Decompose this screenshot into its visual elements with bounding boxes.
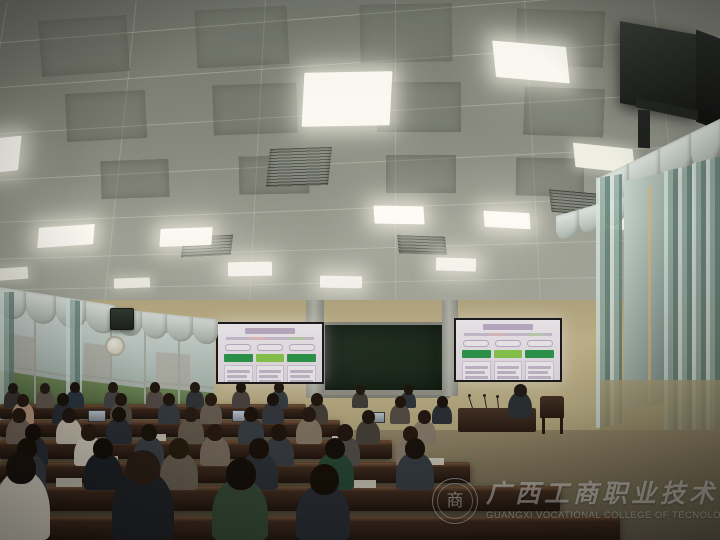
slide-caption-pill [289, 344, 316, 351]
chair [540, 396, 564, 418]
ceiling-light-panel [320, 276, 362, 289]
ceiling-coffer [523, 87, 605, 138]
slide-column-header [287, 354, 316, 362]
slide-line [227, 370, 250, 373]
wall-clock [105, 336, 125, 356]
slide-line [465, 371, 485, 374]
slide-caption-pill [495, 340, 522, 347]
valance-scallop [26, 291, 56, 326]
ceiling-coffer [194, 6, 289, 69]
audience-head [17, 394, 29, 407]
slide-line [227, 375, 247, 378]
lecture-hall-photo: 商 广西工商职业技术学院 GUANGXI VOCATIONAL COLLEGE … [0, 0, 720, 540]
slide-content-right [456, 320, 560, 380]
slide-line [290, 380, 313, 383]
chair-leg [560, 418, 563, 434]
ceiling-light-panel [0, 267, 28, 282]
slide-line [497, 366, 520, 369]
ceiling-light-panel [436, 257, 476, 271]
slide-line [465, 376, 488, 379]
slide-columns [460, 350, 556, 382]
audience-head [8, 383, 18, 394]
audience-head [190, 382, 200, 393]
valance-scallop [193, 317, 219, 346]
audience-head [267, 393, 279, 406]
audience-head [226, 458, 256, 490]
ceiling-light-panel [492, 41, 570, 84]
slide-title-bar [245, 328, 295, 334]
slide-column-body [224, 365, 253, 384]
audience-head [302, 407, 316, 422]
slide-line [465, 366, 488, 369]
slide-caption-pill [463, 340, 490, 347]
slide-line [528, 371, 548, 374]
audience-head [108, 382, 118, 393]
audience-head [244, 407, 258, 422]
slide-column-header [525, 350, 554, 358]
audience-head [40, 383, 50, 394]
slide-content-left [218, 324, 322, 382]
slide-column-body [525, 361, 554, 382]
handout-paper [56, 478, 82, 487]
slide-caption-row [460, 340, 556, 347]
desk-row [0, 486, 560, 511]
slide-column-body [494, 361, 523, 382]
projection-screen-right [454, 318, 562, 382]
audience-head [205, 393, 217, 406]
slide-title-bar [483, 324, 533, 330]
speaker-mount-bracket [638, 110, 650, 149]
slide-caption-pill [225, 344, 252, 351]
slide-line [497, 376, 520, 379]
slide-subtitle-bar [464, 333, 552, 336]
slide-column [494, 350, 523, 382]
audience-head [310, 464, 339, 495]
audience-head [236, 382, 246, 393]
valance-scallop [142, 311, 168, 340]
blackboard [322, 322, 450, 398]
slide-line [290, 370, 313, 373]
slide-column [287, 354, 316, 384]
slide-column-header [494, 350, 523, 358]
window-frame-right [648, 186, 651, 403]
audience-head [405, 438, 425, 459]
ceiling-coffer [65, 90, 147, 142]
slide-line [290, 375, 310, 378]
audience-head [141, 424, 157, 441]
slide-column-body [287, 365, 316, 384]
ceiling-light-panel [159, 227, 212, 247]
ceiling-light-panel [228, 262, 272, 277]
audience-head [404, 385, 413, 395]
slide-caption-pill [257, 344, 284, 351]
audience-head [271, 424, 287, 441]
audience-head [274, 382, 284, 393]
ceiling-coffer [360, 3, 453, 63]
audience-head [57, 393, 69, 406]
chalk-tray [322, 390, 444, 395]
audience-head [163, 393, 175, 406]
ceiling-light-panel [37, 224, 95, 248]
slide-column-body [462, 361, 491, 382]
audience-head [150, 382, 160, 393]
slide-column [224, 354, 253, 384]
audience-head [126, 450, 160, 484]
handout-paper [352, 480, 376, 488]
audience-head [6, 452, 36, 484]
ceiling-coffer [38, 15, 130, 77]
audience-head [362, 410, 375, 424]
audience-head [93, 438, 113, 459]
ceiling-light-panel [0, 136, 22, 179]
chair-leg [542, 418, 545, 434]
microphone-head [468, 394, 471, 397]
audience-head [62, 408, 76, 423]
slide-column [256, 354, 285, 384]
audience-head [395, 396, 406, 408]
audience-head [207, 424, 223, 441]
slide-line [528, 376, 551, 379]
ceiling-speaker-side [696, 30, 720, 131]
ceiling-light-panel [302, 71, 393, 127]
audience-head [12, 408, 26, 423]
ceiling-coffer [212, 83, 298, 136]
laptop [88, 410, 106, 422]
slide-columns [222, 354, 318, 384]
audience-head [249, 438, 269, 459]
audience-head [115, 393, 127, 406]
slide-caption-row [222, 344, 318, 351]
audience-head [70, 382, 80, 393]
air-vent [266, 147, 332, 187]
slide-line [528, 366, 551, 369]
slide-line [497, 371, 517, 374]
valance-scallop [167, 314, 193, 343]
audience-head [81, 424, 97, 441]
ceiling-light-panel [114, 277, 150, 288]
projection-screen-left [216, 322, 324, 384]
slide-line [259, 370, 282, 373]
air-vent [397, 235, 447, 255]
slide-column-header [224, 354, 253, 362]
presenter-head [514, 384, 527, 397]
wall-speaker [110, 308, 134, 330]
ceiling-light-panel [483, 211, 530, 229]
microphone-head [483, 394, 486, 397]
audience-head [437, 396, 448, 408]
slide-subtitle-bar [226, 337, 314, 340]
slide-column-header [462, 350, 491, 358]
audience-head [311, 393, 323, 406]
slide-line [259, 375, 279, 378]
ceiling-coffer [100, 159, 169, 199]
audience-head [418, 410, 431, 424]
ceiling-coffer [386, 155, 456, 193]
ceiling-light-panel [373, 206, 424, 225]
audience-head [356, 385, 365, 395]
audience-head [325, 438, 345, 459]
slide-column-header [256, 354, 285, 362]
audience-head [169, 438, 189, 459]
slide-column [525, 350, 554, 382]
audience-head [184, 407, 198, 422]
slide-column [462, 350, 491, 382]
microphone-head [496, 395, 499, 398]
slide-caption-pill [527, 340, 554, 347]
audience-head [112, 407, 126, 422]
